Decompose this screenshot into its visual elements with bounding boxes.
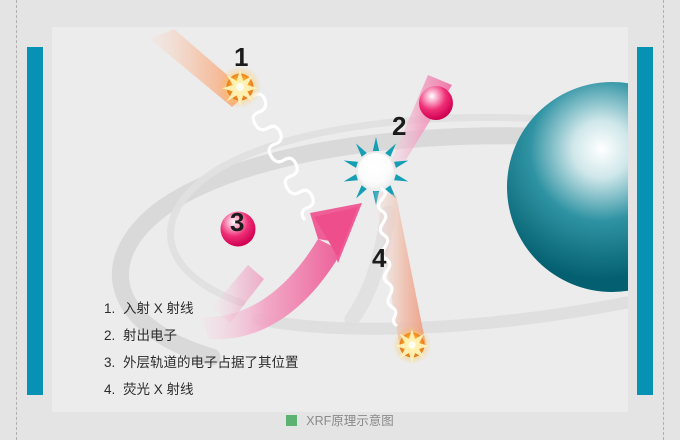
list-item: 1.入射 X 射线 bbox=[104, 295, 628, 322]
legend-item-text: 入射 X 射线 bbox=[123, 301, 194, 316]
legend-item-number: 3. bbox=[104, 349, 123, 376]
list-item: 3.外层轨道的电子占据了其位置 bbox=[104, 349, 628, 376]
accent-bar-right bbox=[637, 47, 653, 395]
legend-item-text: 射出电子 bbox=[123, 328, 177, 343]
page-guide-line-right bbox=[663, 0, 664, 440]
marker-3-label: 3 bbox=[230, 207, 244, 237]
incident-photon-particle bbox=[219, 66, 261, 108]
marker-1-label: 1 bbox=[234, 42, 248, 72]
list-item: 2.射出电子 bbox=[104, 322, 628, 349]
page-guide-line-left bbox=[16, 0, 17, 440]
legend-item-number: 2. bbox=[104, 322, 123, 349]
legend-item-number: 1. bbox=[104, 295, 123, 322]
ejected-electron bbox=[419, 86, 453, 120]
accent-bar-left bbox=[27, 47, 43, 395]
legend-list: 1.入射 X 射线 2.射出电子 3.外层轨道的电子占据了其位置 4.荧光 X … bbox=[52, 295, 628, 403]
caption-text: XRF原理示意图 bbox=[306, 414, 394, 428]
figure-panel: 1 2 3 4 1.入射 X 射线 2.射出电子 3.外层轨道的电子占据了其位置… bbox=[52, 27, 628, 412]
list-item: 4.荧光 X 射线 bbox=[104, 376, 628, 403]
marker-4-label: 4 bbox=[372, 243, 387, 273]
legend-item-number: 4. bbox=[104, 376, 123, 403]
legend-item-text: 外层轨道的电子占据了其位置 bbox=[123, 355, 299, 370]
figure-caption: XRF原理示意图 bbox=[0, 414, 680, 428]
legend-item-text: 荧光 X 射线 bbox=[123, 382, 194, 397]
marker-2-label: 2 bbox=[392, 111, 406, 141]
nucleus bbox=[507, 82, 628, 292]
caption-swatch-icon bbox=[286, 415, 297, 426]
